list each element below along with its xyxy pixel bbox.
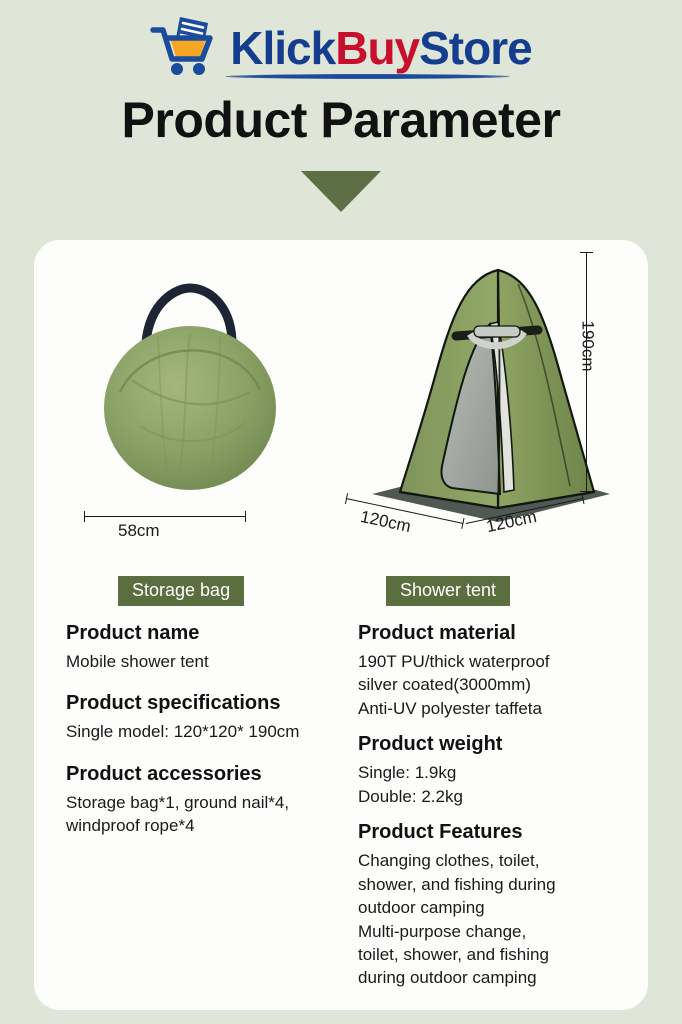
logo-underline-swoosh: [225, 74, 510, 79]
spec-line: outdoor camping: [358, 897, 628, 919]
dimension-line-tent-height: [586, 252, 587, 492]
spec-block-product-material: Product material 190T PU/thick waterproo…: [358, 622, 628, 720]
brand-name-part2: Buy: [335, 22, 419, 74]
spec-line: 190T PU/thick waterproof: [358, 651, 628, 673]
dimension-line-bag-width: [84, 516, 246, 517]
spec-line: silver coated(3000mm): [358, 674, 628, 696]
spec-line: Anti-UV polyester taffeta: [358, 698, 628, 720]
spec-heading: Product weight: [358, 733, 628, 756]
dimension-label-tent-height: 190cm: [578, 320, 598, 371]
triangle-down-icon: [301, 171, 381, 212]
spec-line: Storage bag*1, ground nail*4,: [66, 792, 356, 814]
specifications-section: Product name Mobile shower tent Product …: [34, 622, 648, 1010]
brand-name-part1: Klick: [230, 22, 335, 74]
shopping-cart-icon: [150, 14, 224, 76]
brand-wordmark: KlickBuyStore: [230, 25, 531, 71]
spec-block-product-accessories: Product accessories Storage bag*1, groun…: [66, 763, 356, 838]
spec-heading: Product name: [66, 622, 356, 645]
caption-badge-shower-tent: Shower tent: [386, 576, 510, 606]
spec-line: Multi-purpose change,: [358, 921, 628, 943]
storage-bag-image: [80, 276, 300, 496]
shower-tent-cell: 190cm 120cm 120cm: [334, 240, 648, 600]
brand-name-part3: Store: [419, 22, 532, 74]
spec-heading: Product accessories: [66, 763, 356, 786]
spec-line: Single model: 120*120* 190cm: [66, 721, 356, 743]
specs-column-left: Product name Mobile shower tent Product …: [66, 622, 356, 857]
spec-line: toilet, shower, and fishing: [358, 944, 628, 966]
dimension-cap-bottom: [580, 491, 593, 492]
spec-block-product-features: Product Features Changing clothes, toile…: [358, 821, 628, 990]
page-title: Product Parameter: [0, 86, 682, 147]
spec-block-product-specifications: Product specifications Single model: 120…: [66, 692, 356, 743]
spec-block-product-name: Product name Mobile shower tent: [66, 622, 356, 673]
spec-heading: Product material: [358, 622, 628, 645]
shower-tent-image: [348, 250, 638, 540]
spec-line: Changing clothes, toilet,: [358, 850, 628, 872]
spec-line: Single: 1.9kg: [358, 762, 628, 784]
dimension-cap-top: [580, 252, 593, 253]
specs-column-right: Product material 190T PU/thick waterproo…: [358, 622, 628, 1003]
spec-heading: Product specifications: [66, 692, 356, 715]
caption-badge-storage-bag: Storage bag: [118, 576, 244, 606]
spec-line: Mobile shower tent: [66, 651, 356, 673]
spec-line: shower, and fishing during: [358, 874, 628, 896]
spec-heading: Product Features: [358, 821, 628, 844]
spec-line: during outdoor camping: [358, 967, 628, 989]
dimension-cap-left: [84, 511, 85, 522]
product-parameter-card: 58cm: [34, 240, 648, 1010]
spec-line: windproof rope*4: [66, 815, 356, 837]
storage-bag-cell: 58cm: [40, 240, 340, 600]
dimension-label-bag-width: 58cm: [118, 521, 160, 541]
dimension-cap-right: [245, 511, 246, 522]
spec-line: Double: 2.2kg: [358, 786, 628, 808]
product-images-row: 58cm: [34, 240, 648, 600]
spec-block-product-weight: Product weight Single: 1.9kg Double: 2.2…: [358, 733, 628, 808]
